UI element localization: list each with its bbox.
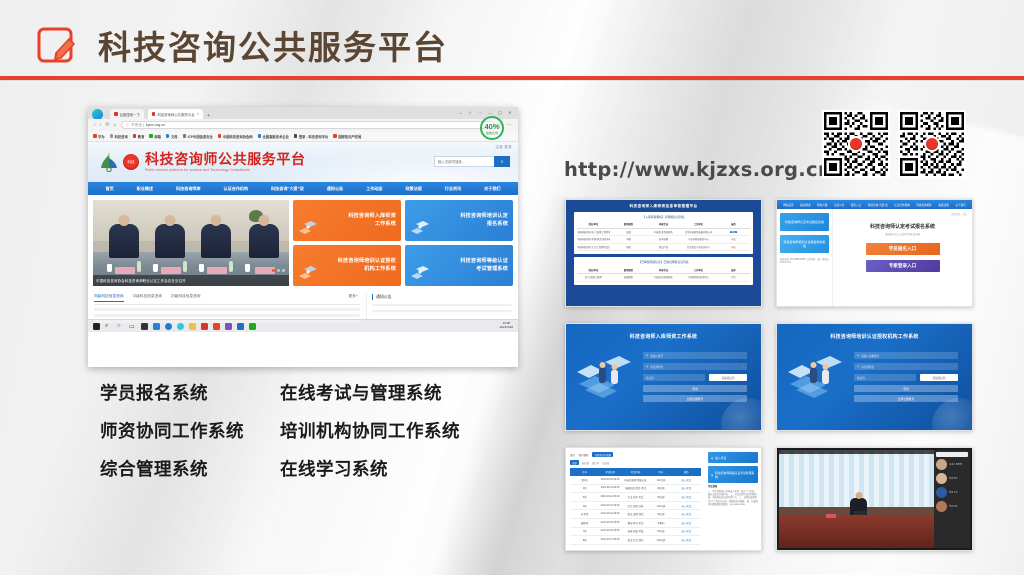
website-url: http://www.kjzxs.org.cn [564,158,832,181]
zoom-annotation-badge: 40% 缩放比例 [480,116,504,140]
tab-home[interactable]: 首页 [570,453,575,457]
table-row[interactable]: 补考场2021-09-14 09:00职业 道德 测试60分钟进入考试 [570,510,701,519]
photo-document [161,267,181,274]
table-row[interactable]: 模拟场2021-09-15 09:00模拟 练习 考试不限时进入考试 [570,519,701,528]
get-captcha-button[interactable]: 获取验证码 [709,374,747,381]
site-nav-item[interactable]: 政策法规 [405,186,421,192]
exam-filters: 全部 未开始 进行中 已结束 [570,460,701,465]
portal-nav-item[interactable]: 认证合作机构 [894,203,910,207]
portal-nav-item[interactable]: 网站首页 [783,203,793,207]
captcha-placeholder: 验证码 [646,376,654,380]
kjzxs-seal-icon [123,154,139,170]
bookmark-item[interactable]: 国家知识产权局 [333,134,361,139]
zoom-note: 缩放比例 [486,131,498,135]
explorer-icon[interactable] [153,323,160,330]
site-nav-item[interactable]: 认证合作机构 [224,186,249,192]
site-nav-item[interactable]: 科技咨询“大爱”说 [271,186,304,192]
bookmark-label: 华为 [98,134,105,139]
system-name-general-management: 综合管理系统 [100,456,280,481]
carousel-dot[interactable] [277,269,280,272]
avatar [936,473,947,484]
portal-main: 当前位置：首页 科技咨询师认定考试报名系统 请选择对应入口进行登录或注册 学员报… [833,209,972,306]
account-input[interactable]: ◍ 请输入账号 [643,352,747,359]
thumb-title: 科技咨询师入库师资信息审核管理平台 [574,204,753,209]
video-table-front [779,515,934,548]
system-name-institution-collab: 培训机构协同工作系统 [280,418,480,443]
online-training-live-session-screenshot[interactable]: 主讲人 张老师 学员 李工 学员 王工 学员 刘工 [776,447,973,551]
portal-sidebar: 科技咨询师认定考试报名系统 科技咨询师培训认证授权机构系统 咨询电话 010-8… [777,209,833,306]
system-name-online-learning: 在线学习系统 [280,456,480,481]
photo-document [207,267,227,274]
tab-exam-management[interactable]: 在线考试与管理 [592,452,613,457]
tab-my-courses[interactable]: 我的课程 [579,453,589,457]
role-select[interactable]: ◍ 请选择角色 ⌄ [854,363,958,370]
site-footer-section: 同级科技信息咨询 中级科技信息咨询 初级科技信息咨询 更多+ 通知公告 [88,291,518,319]
table-row[interactable]: 中国科技咨询·王五/工程师/知识产权运营初级 知识产权北京知识产权运营中心 审核 [577,244,750,252]
captcha-input[interactable]: 验证码 [643,374,705,381]
reload-icon[interactable]: ⟳ [105,122,109,128]
system-isometric-icon [409,220,431,236]
page-title: 科技咨询公共服务平台 [98,21,448,69]
approved-list-card: 【已审核师资信息】已通过审核信息列表 姓名/单位职称级别 申报专业工作单位 操作… [574,257,753,284]
participant-item[interactable]: 学员 刘工 [936,501,968,512]
site-nav-item[interactable]: 职业概述 [137,186,153,192]
browser-tab-active[interactable]: 科技咨询师公共服务平台 ✕ [148,109,203,119]
participant-name: 主讲人 张老师 [949,463,962,466]
notice-title: 考试须知 [708,486,758,490]
sidebar-entry-exam-system[interactable]: 科技咨询师认定考试报名系统 [780,213,829,231]
card-title: 【已审核师资信息】已通过审核信息列表 [577,260,750,264]
bookmark-item[interactable]: 全国高新技术企业 [258,134,289,139]
back-icon[interactable]: ‹ [94,122,96,128]
notice-placeholder-row [372,310,512,313]
breadcrumb: 当前位置：首页 [951,212,967,216]
portal-nav-item[interactable]: 报名入口 [851,203,861,207]
photo-cup [245,264,250,272]
portal-nav-item[interactable]: 政策法规 [938,203,948,207]
portal-navigation: 网站首页 职业概述 师资力量 认定公告 报名入口 科技咨询“大爱”说 认证合作机… [777,200,972,209]
notice-placeholder-row [372,304,512,307]
edge-icon[interactable] [177,323,184,330]
wps-icon[interactable] [213,323,220,330]
site-nav-item[interactable]: 行业资讯 [445,186,461,192]
title-divider [0,76,1024,80]
systems-list: 学员报名系统 在线考试与管理系统 师资协同工作系统 培训机构协同工作系统 综合管… [100,380,480,481]
portal-nav-item[interactable]: 科技咨询“大爱”说 [868,203,888,207]
photo-bottle [183,261,187,272]
table-row[interactable]: 7场2021-09-16 09:00技能 实操 考核90分钟进入考试 [570,528,701,537]
portal-title: 科技咨询师认定考试报名系统 [839,223,966,230]
qr-canvas [900,112,964,176]
photo-person [201,224,231,258]
browser-tab-strip: 百度搜索一下 科技咨询师公共服务平台 ✕ + ⌄ ☆ ⋯ — ▢ ✕ [88,107,518,119]
card-title: 【入库师资审核】待审核信息列表 [577,215,750,219]
slide-header: 科技咨询公共服务平台 [0,14,1024,76]
consultant-level-tabs: 同级科技信息咨询 中级科技信息咨询 初级科技信息咨询 更多+ [94,294,360,305]
system-name-trainer-collab: 师资协同工作系统 [100,418,280,443]
bookmark-item[interactable]: 中国科技咨询协会网 [218,134,253,139]
tab-intermediate[interactable]: 中级科技信息咨询 [133,294,163,302]
portal-nav-item[interactable]: 职业概述 [800,203,810,207]
clock-date: 2021/9/18 [500,325,513,329]
edit-square-icon [36,23,80,67]
participant-panel: 主讲人 张老师 学员 李工 学员 王工 学员 刘工 [934,450,970,548]
cortana-icon[interactable]: ○ [117,323,124,330]
role-icon: ◍ [646,365,648,368]
bookmark-label: 文库 [171,134,178,139]
photo-person [109,224,139,258]
url-text: kjzxs.org.cn [146,123,165,127]
trainer-workspace-login-screenshot[interactable]: 科技咨询师入库师资工作系统 ◍ 请输入账号 ◍ 请选择角色 ⌄ [565,323,762,431]
portal-nav-item[interactable]: 认定公告 [834,203,844,207]
certification-registration-portal-screenshot[interactable]: 网站首页 职业概述 师资力量 认定公告 报名入口 科技咨询“大爱”说 认证合作机… [776,199,973,307]
filter-in-progress[interactable]: 进行中 [592,461,599,465]
system-card-label: 科技咨询师培训认证授权机构工作系统 [338,258,396,273]
video-nameplate [826,514,836,518]
site-nav-item[interactable]: 科技咨询师库 [176,186,201,192]
close-icon[interactable]: ✕ [197,112,200,116]
system-name-student-registration: 学员报名系统 [100,380,280,405]
carousel-dot[interactable] [282,269,285,272]
student-registration-entry-button[interactable]: 学员报名入口 [866,243,940,255]
hero-caption: 中国科技咨询协会科技咨询师职业认定工作会议在京召开 [93,275,289,286]
bookmark-label: 登录 - 科技咨询平台 [299,134,328,139]
security-label: 不安全 | [131,123,144,128]
folder-icon[interactable] [189,323,196,330]
system-name-online-exam: 在线考试与管理系统 [280,380,480,405]
enter-exam-card[interactable]: ◈ 进入考试 [708,452,758,463]
avatar [936,501,947,512]
sidebar-entry-institution-system[interactable]: 科技咨询师培训认证授权机构系统 [780,235,829,253]
bookmark-label: 全国高新技术企业 [263,134,289,139]
login-form: ◍ 请输入机构账号 ◍ 请选择角色 ⌄ 验证码 获取验证码 登录 立即注册账号 [854,352,958,405]
bookmark-item[interactable]: 邮箱 [149,134,161,139]
system-card-training-registration[interactable]: 科技咨询师培训认定报名系统 [405,200,513,241]
qr-code-wechat-official [822,110,890,178]
widgets-icon[interactable] [141,323,148,330]
login-title: 科技咨询师培训认证授权机构工作系统 [777,333,972,340]
site-nav-item[interactable]: 首页 [105,186,113,192]
video-toolbar[interactable] [779,450,934,454]
browser-address-bar: ‹ › ⟳ ⌂ ⓘ 不安全 | kjzxs.org.cn ☆ ⋯ [88,119,518,131]
account-placeholder: 请输入机构账号 [861,354,879,358]
table-row[interactable]: 2场2021-09-11 09:00基础知识 理论 考试90分钟进入考试 [570,485,701,494]
system-isometric-icon [297,265,319,281]
role-placeholder: 请选择角色 [861,365,874,369]
taskbar-clock[interactable]: 16:08 2021/9/18 [500,322,513,329]
chevron-down-icon: ⌄ [953,365,955,368]
sidebar-contact-note: 咨询电话 010-8888 8888 工作时间：周一至周五 9:00-17:30 [780,259,829,266]
qr-code-mini-program [898,110,966,178]
browser-tab-label: 科技咨询师公共服务平台 [157,112,194,117]
system-icon: ◈ [711,473,713,477]
wps-icon[interactable] [201,323,208,330]
captcha-input[interactable]: 验证码 [854,374,916,381]
table-header-row: 姓名/单位职称级别 申报专业工作单位 操作 [577,266,750,274]
bookmark-item[interactable]: ICP中国信息安全 [183,134,213,139]
photo-bottle [229,261,233,272]
register-button[interactable]: 立即注册账号 [854,395,958,402]
login-button[interactable]: 登录 [854,385,958,392]
notice-section-title: 通知公告 [372,294,512,300]
system-isometric-icon [409,265,431,281]
portal-nav-item[interactable]: 科技咨询师库 [916,203,932,207]
browser-window-screenshot: 百度搜索一下 科技咨询师公共服务平台 ✕ + ⌄ ☆ ⋯ — ▢ ✕ ‹ › ⟳… [88,107,518,367]
login-illustration [786,354,850,402]
forward-icon[interactable]: › [100,122,102,128]
bookmark-label: 教育 [138,134,145,139]
notice-text: 一、考生须提前15分钟进入考场，核对个人信息，确认无误后开始作答。 二、考试过程… [708,491,758,507]
filter-ended[interactable]: 已结束 [602,461,609,465]
site-nav-item[interactable]: 关于我们 [484,186,500,192]
table-row[interactable]: 中国科技咨询·张三/高级工程师/科技创新高级 科技信息咨询服务北京科技创新发展有… [577,229,750,237]
security-icon: ⓘ [126,123,130,128]
system-card-authorized-institution[interactable]: 科技咨询师培训认证授权机构工作系统 [293,245,401,286]
task-view-icon[interactable]: ▭ [129,323,136,330]
browser-tab[interactable]: 百度搜索一下 [110,109,144,119]
role-select[interactable]: ◍ 请选择角色 ⌄ [643,363,747,370]
filter-all[interactable]: 全部 [570,460,579,465]
admin-review-table-screenshot[interactable]: 科技咨询师入库师资信息审核管理平台 【入库师资审核】待审核信息列表 姓名/单位职… [565,199,762,307]
tab-junior[interactable]: 初级科技信息咨询 [171,294,201,302]
participant-name: 学员 刘工 [949,505,958,508]
participant-item[interactable]: 学员 李工 [936,473,968,484]
table-row[interactable]: 中国科技咨询·李四/研究员/技术转移服务中级 技术转移中关村科技服务中心 审核 [577,236,750,244]
home-icon[interactable]: ⌂ [114,122,117,128]
pending-review-card: 【入库师资审核】待审核信息列表 姓名/单位职称级别 申报专业工作单位 操作 中国… [574,212,753,254]
participant-item[interactable]: 学员 王工 [936,487,968,498]
photo-person [155,224,185,258]
authorized-institution-workspace-login-screenshot[interactable]: 科技咨询师培训认证授权机构工作系统 ◍ 请输入机构账号 ◍ 请选择角色 ⌄ [776,323,973,431]
kjzxs-seal-icon [848,136,864,152]
edge-icon[interactable] [165,323,172,330]
exam-top-tabs: 首页 我的课程 在线考试与管理 [570,452,701,457]
tab-favicon-icon [152,112,156,116]
system-card-exam-management[interactable]: 科技咨询师等级认证考试管理系统 [405,245,513,286]
login-form: ◍ 请输入账号 ◍ 请选择角色 ⌄ 验证码 获取验证码 登录 立即注册账号 [643,352,747,405]
exam-notice: 考试须知 一、考生须提前15分钟进入考场，核对个人信息，确认无误后开始作答。 二… [708,486,758,508]
tab-senior[interactable]: 同级科技信息咨询 [94,294,124,302]
photo-person [249,224,279,258]
photo-bottle [137,261,141,272]
captcha-placeholder: 验证码 [857,376,865,380]
bookmark-item[interactable]: 华为 [93,134,105,139]
menu-icon[interactable]: ⋯ [507,122,512,128]
participant-name: 学员 王工 [949,491,958,494]
filter-not-started[interactable]: 未开始 [582,461,589,465]
user-icon: ◍ [646,354,648,357]
system-card-label: 科技咨询师等级认证考试管理系统 [460,258,508,273]
table-row[interactable]: 赵六/高级工程师高级职称 科技信息咨询服务中科院科技咨询中心 详情 [577,274,750,282]
site-nav-item[interactable]: 工作动态 [366,186,382,192]
role-icon: ◍ [857,365,859,368]
url-input[interactable]: ⓘ 不安全 | kjzxs.org.cn [121,121,495,129]
bookmark-label: 邮箱 [154,134,161,139]
participant-item[interactable]: 主讲人 张老师 [936,459,968,470]
photo-cup [107,264,112,272]
video-stage [779,450,934,548]
app-icon[interactable] [225,323,232,330]
bookmark-item[interactable]: 科技咨询 [110,134,128,139]
avatar [936,459,947,470]
system-card-label: 科技咨询师入库师资工作系统 [348,213,396,228]
register-button[interactable]: 立即注册账号 [643,395,747,402]
login-illustration [575,354,639,402]
system-card-label: 科技咨询师培训认定报名系统 [460,213,508,228]
start-icon[interactable] [93,323,100,330]
table-row[interactable]: 第1场2021-09-10 09:00科技咨询师 等级认证120分钟进入考试 [570,476,701,485]
bookmark-label: 国家知识产权局 [338,134,361,139]
table-row[interactable]: 4场2021-09-13 09:00综合 案例 分析120分钟进入考试 [570,502,701,511]
list-placeholder-row [94,314,360,317]
site-nav-item[interactable]: 通知公告 [327,186,343,192]
tab-favicon-icon [114,112,118,116]
login-button[interactable]: 登录 [643,385,747,392]
qr-canvas [824,112,888,176]
app-icon[interactable] [237,323,244,330]
zoom-value: 40% [484,122,499,131]
table-header-row: 姓名/单位职称级别 申报专业工作单位 操作 [577,221,750,229]
table-row[interactable]: 8场2021-09-17 09:00结业 综合 测评120分钟进入考试 [570,536,701,545]
site-navigation: 首页 职业概述 科技咨询师库 认证合作机构 科技咨询“大爱”说 通知公告 工作动… [88,182,518,195]
bookmark-label: 中国科技咨询协会网 [223,134,253,139]
account-input[interactable]: ◍ 请输入机构账号 [854,352,958,359]
site-name-en: Public service platform for science and … [145,168,306,172]
site-main-content: 中国科技咨询协会科技咨询师职业认定工作会议在京召开 科技咨询师入库师资工作系统 [88,195,518,291]
exam-system-card[interactable]: ◈ 科技咨询师等级认证考试管理系统 [708,466,758,483]
window-controls[interactable]: ⌄ ☆ ⋯ — ▢ ✕ [459,110,514,115]
search-icon[interactable]: ⌕ [105,323,112,330]
table-row[interactable]: 3场2021-09-12 09:00专业 实务 考试90分钟进入考试 [570,493,701,502]
avatar [936,487,947,498]
hero-news-photo[interactable]: 中国科技咨询协会科技咨询师职业认定工作会议在京召开 [93,200,289,286]
bookmark-label: 科技咨询 [115,134,128,139]
more-link[interactable]: 更多+ [348,294,358,299]
expert-login-entry-button[interactable]: 专家登录入口 [866,260,940,272]
online-exam-course-list-screenshot[interactable]: 首页 我的课程 在线考试与管理 全部 未开始 进行中 已结束 序号考试名称 考试… [565,447,762,551]
portal-subtitle: 请选择对应入口进行登录或注册 [839,232,966,236]
portal-nav-item[interactable]: 师资力量 [817,203,827,207]
kjzxs-seal-icon [924,136,940,152]
bookmark-item[interactable]: 文库 [166,134,178,139]
wechat-icon[interactable] [249,323,256,330]
bookmark-item[interactable]: 教育 [133,134,145,139]
carousel-dots[interactable] [272,269,285,272]
portal-nav-item[interactable]: 关于我们 [955,203,965,207]
system-entry-cards: 科技咨询师入库师资工作系统 科技咨询师培训认定报名系统 [293,200,513,286]
browser-tab-label: 百度搜索一下 [120,112,140,117]
list-placeholder-row [94,308,360,311]
chevron-down-icon: ⌄ [742,365,744,368]
photo-cup [153,264,158,272]
site-header: 注册 登录 科技咨询师公共服务平台 Public service platfor… [88,142,518,182]
bookmark-item[interactable]: 登录 - 科技咨询平台 [294,134,328,139]
login-title: 科技咨询师入库师资工作系统 [566,333,761,340]
exam-icon: ◈ [711,456,713,460]
site-name: 科技咨询师公共服务平台 [145,152,306,166]
carousel-dot[interactable] [272,269,275,272]
account-placeholder: 请输入账号 [650,354,663,358]
photo-cup [199,264,204,272]
approve-button[interactable]: 通过 [730,231,737,233]
table-header-row: 序号考试名称 考试时间时长 操作 [570,468,701,476]
role-placeholder: 请选择角色 [650,365,663,369]
system-card-talent-pool[interactable]: 科技咨询师入库师资工作系统 [293,200,401,241]
system-isometric-icon [297,220,319,236]
user-icon: ◍ [857,354,859,357]
get-captcha-button[interactable]: 获取验证码 [920,374,958,381]
bookmarks-bar: 华为 科技咨询 教育 邮箱 文库 ICP中国信息安全 中国科技咨询协会网 全国高… [88,131,518,142]
share-screen-button[interactable] [936,452,968,457]
participant-name: 学员 李工 [949,477,958,480]
photo-document [115,267,135,274]
bookmark-label: ICP中国信息安全 [188,134,213,139]
kjzxs-emblem-icon [98,152,120,172]
